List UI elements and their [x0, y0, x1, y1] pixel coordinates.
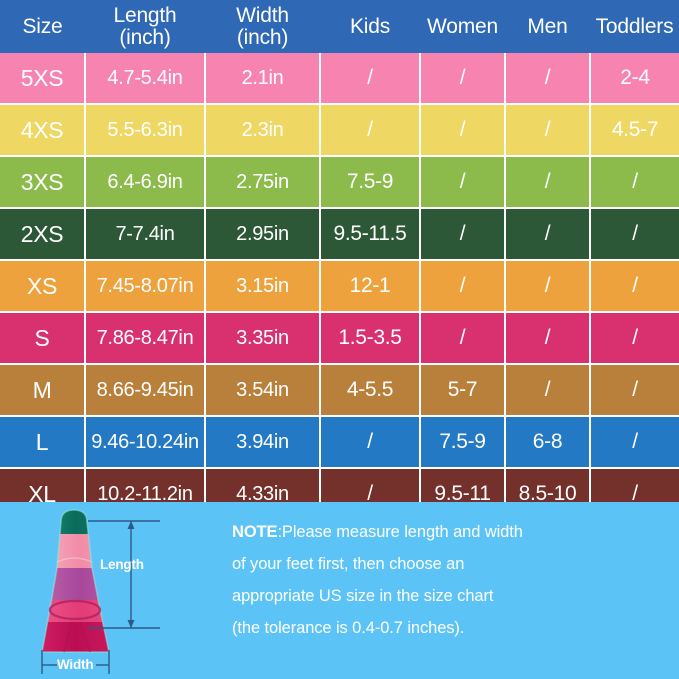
cell-width: 3.35in — [205, 312, 320, 364]
cell-women: 7.5-9 — [420, 416, 505, 468]
table-row: XS7.45-8.07in3.15in12-1/// — [0, 260, 679, 312]
cell-kids: 1.5-3.5 — [320, 312, 420, 364]
cell-kids: / — [320, 416, 420, 468]
column-header-width-label: Width — [236, 4, 289, 27]
column-header-kids: Kids — [320, 0, 420, 53]
column-header-length-label: Length — [113, 4, 176, 27]
table-row: L9.46-10.24in3.94in/7.5-96-8/ — [0, 416, 679, 468]
fin-diagram: Length Width — [0, 502, 232, 679]
size-chart-table: Size Length (inch) Width (inch) Kids Wom… — [0, 0, 679, 519]
length-arrow-down-icon — [128, 620, 135, 628]
cell-kids: / — [320, 53, 420, 104]
cell-men: 6-8 — [505, 416, 590, 468]
cell-size: 5XS — [0, 53, 85, 104]
column-header-men-label: Men — [527, 15, 567, 38]
cell-size: 4XS — [0, 104, 85, 156]
cell-size: 2XS — [0, 208, 85, 260]
cell-width: 3.54in — [205, 364, 320, 416]
cell-women: / — [420, 156, 505, 208]
cell-size: XS — [0, 260, 85, 312]
swim-fin-illustration — [0, 502, 232, 679]
table-body: 5XS4.7-5.4in2.1in///2-44XS5.5-6.3in2.3in… — [0, 53, 679, 519]
cell-men: / — [505, 260, 590, 312]
cell-width: 2.3in — [205, 104, 320, 156]
column-header-size: Size — [0, 0, 85, 53]
cell-women: / — [420, 312, 505, 364]
cell-toddlers: / — [590, 312, 679, 364]
cell-toddlers: / — [590, 260, 679, 312]
table-row: M8.66-9.45in3.54in4-5.55-7// — [0, 364, 679, 416]
cell-width: 2.95in — [205, 208, 320, 260]
column-header-length-unit: (inch) — [87, 27, 203, 48]
cell-kids: 7.5-9 — [320, 156, 420, 208]
cell-women: / — [420, 208, 505, 260]
cell-length: 6.4-6.9in — [85, 156, 205, 208]
width-dimension-label: Width — [57, 657, 93, 672]
cell-length: 9.46-10.24in — [85, 416, 205, 468]
cell-men: / — [505, 208, 590, 260]
cell-width: 2.1in — [205, 53, 320, 104]
column-header-width-unit: (inch) — [207, 27, 318, 48]
table-row: 2XS7-7.4in2.95in9.5-11.5/// — [0, 208, 679, 260]
cell-women: / — [420, 53, 505, 104]
cell-toddlers: 2-4 — [590, 53, 679, 104]
table-header: Size Length (inch) Width (inch) Kids Wom… — [0, 0, 679, 53]
cell-length: 7.45-8.07in — [85, 260, 205, 312]
column-header-women: Women — [420, 0, 505, 53]
note-line-1-rest: :Please measure length and width — [277, 523, 522, 541]
column-header-toddlers-label: Toddlers — [596, 15, 674, 38]
cell-women: 5-7 — [420, 364, 505, 416]
cell-men: / — [505, 364, 590, 416]
table-row: 5XS4.7-5.4in2.1in///2-4 — [0, 53, 679, 104]
cell-length: 8.66-9.45in — [85, 364, 205, 416]
column-header-men: Men — [505, 0, 590, 53]
cell-men: / — [505, 53, 590, 104]
length-arrow-up-icon — [128, 521, 135, 529]
cell-toddlers: / — [590, 364, 679, 416]
cell-men: / — [505, 312, 590, 364]
size-chart-page: Size Length (inch) Width (inch) Kids Wom… — [0, 0, 679, 679]
cell-kids: 12-1 — [320, 260, 420, 312]
cell-women: / — [420, 260, 505, 312]
column-header-toddlers: Toddlers — [590, 0, 679, 53]
length-dimension-label: Length — [100, 557, 144, 572]
column-header-size-label: Size — [22, 15, 62, 38]
column-header-width: Width (inch) — [205, 0, 320, 53]
note-text-block: NOTE:Please measure length and width of … — [232, 516, 672, 644]
cell-size: 3XS — [0, 156, 85, 208]
cell-width: 2.75in — [205, 156, 320, 208]
note-line-2: of your feet first, then choose an — [232, 548, 672, 580]
cell-toddlers: 4.5-7 — [590, 104, 679, 156]
note-label: NOTE — [232, 523, 277, 541]
table-row: S7.86-8.47in3.35in1.5-3.5/// — [0, 312, 679, 364]
cell-men: / — [505, 104, 590, 156]
cell-toddlers: / — [590, 416, 679, 468]
cell-men: / — [505, 156, 590, 208]
cell-length: 7-7.4in — [85, 208, 205, 260]
cell-size: L — [0, 416, 85, 468]
header-row: Size Length (inch) Width (inch) Kids Wom… — [0, 0, 679, 53]
cell-length: 4.7-5.4in — [85, 53, 205, 104]
cell-kids: 9.5-11.5 — [320, 208, 420, 260]
column-header-length: Length (inch) — [85, 0, 205, 53]
cell-size: S — [0, 312, 85, 364]
table-row: 4XS5.5-6.3in2.3in///4.5-7 — [0, 104, 679, 156]
cell-toddlers: / — [590, 208, 679, 260]
cell-size: M — [0, 364, 85, 416]
cell-toddlers: / — [590, 156, 679, 208]
cell-width: 3.15in — [205, 260, 320, 312]
cell-women: / — [420, 104, 505, 156]
cell-length: 7.86-8.47in — [85, 312, 205, 364]
column-header-women-label: Women — [427, 15, 498, 38]
column-header-kids-label: Kids — [350, 15, 390, 38]
cell-length: 5.5-6.3in — [85, 104, 205, 156]
cell-width: 3.94in — [205, 416, 320, 468]
note-panel: Length Width NOTE:Please measure length … — [0, 502, 679, 679]
note-line-3: appropriate US size in the size chart — [232, 580, 672, 612]
note-line-1: NOTE:Please measure length and width — [232, 516, 672, 548]
note-line-4: (the tolerance is 0.4-0.7 inches). — [232, 612, 672, 644]
cell-kids: / — [320, 104, 420, 156]
table-row: 3XS6.4-6.9in2.75in7.5-9/// — [0, 156, 679, 208]
cell-kids: 4-5.5 — [320, 364, 420, 416]
